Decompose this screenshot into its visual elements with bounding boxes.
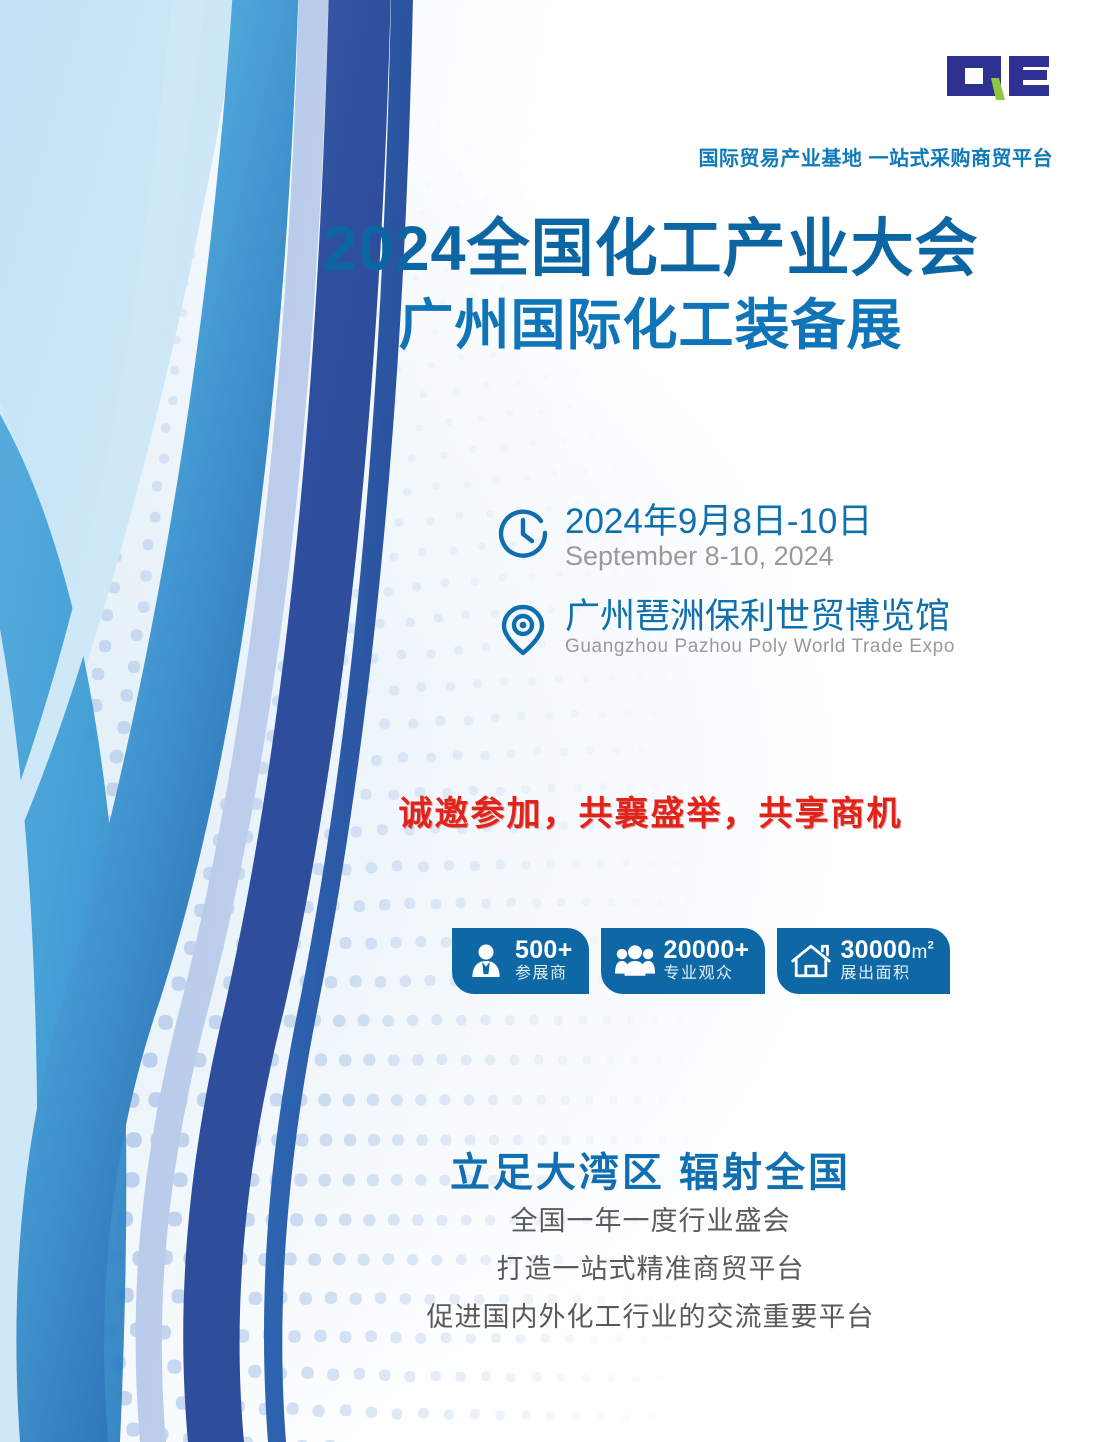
bottom-line: 全国一年一度行业盛会 <box>250 1208 1051 1235</box>
bottom-line: 打造一站式精准商贸平台 <box>250 1256 1051 1283</box>
event-venue-cn: 广州琶洲保利世贸博览馆 <box>565 598 955 636</box>
stat-number: 30000m2 <box>840 938 934 964</box>
event-venue-en: Guangzhou Pazhou Poly World Trade Expo <box>565 636 955 658</box>
location-pin-icon <box>497 598 557 663</box>
page-subtitle: 广州国际化工装备展 <box>250 292 1051 358</box>
stat-number: 20000+ <box>664 938 750 964</box>
stat-number-value: 30000 <box>840 936 911 964</box>
event-date-row: 2024年9月8日-10日 September 8-10, 2024 <box>497 503 955 572</box>
stat-badge-text: 30000m2 展出面积 <box>831 938 934 984</box>
event-venue-row: 广州琶洲保利世贸博览馆 Guangzhou Pazhou Poly World … <box>497 598 955 663</box>
title-group: 2024全国化工产业大会 广州国际化工装备展 <box>250 212 1051 358</box>
event-date-en: September 8-10, 2024 <box>565 541 872 572</box>
stat-badge-text: 500+ 参展商 <box>506 938 573 984</box>
stat-label: 参展商 <box>515 964 573 984</box>
stats-badge-row: 500+ 参展商 20000+ 专业观 <box>452 928 950 994</box>
cie-logo <box>943 48 1053 104</box>
page-title: 2024全国化工产业大会 <box>250 212 1051 286</box>
stat-badge-text: 20000+ 专业观众 <box>655 938 750 984</box>
stat-badge-visitors: 20000+ 专业观众 <box>601 928 766 994</box>
bottom-line: 促进国内外化工行业的交流重要平台 <box>250 1304 1051 1331</box>
cie-logo-icon <box>943 48 1053 104</box>
people-group-icon <box>615 943 655 979</box>
stat-unit-superscript: 2 <box>928 940 934 952</box>
stat-badge-exhibitors: 500+ 参展商 <box>452 928 589 994</box>
bottom-description: 全国一年一度行业盛会 打造一站式精准商贸平台 促进国内外化工行业的交流重要平台 <box>250 1208 1051 1352</box>
event-venue-text: 广州琶洲保利世贸博览馆 Guangzhou Pazhou Poly World … <box>557 598 955 658</box>
stat-label: 展出面积 <box>840 964 934 984</box>
invitation-slogan: 诚邀参加，共襄盛举，共享商机 <box>250 786 1051 835</box>
poster-content: 国际贸易产业基地 一站式采购商贸平台 2024全国化工产业大会 广州国际化工装备… <box>0 0 1111 1442</box>
person-icon <box>466 943 506 979</box>
event-info-block: 2024年9月8日-10日 September 8-10, 2024 广州琶洲保… <box>497 503 955 689</box>
poster-root: 国际贸易产业基地 一站式采购商贸平台 2024全国化工产业大会 广州国际化工装备… <box>0 0 1111 1442</box>
event-date-text: 2024年9月8日-10日 September 8-10, 2024 <box>557 503 872 572</box>
clock-icon <box>497 503 557 564</box>
event-date-cn: 2024年9月8日-10日 <box>565 503 872 541</box>
stat-number: 500+ <box>515 938 573 964</box>
stat-badge-area: 30000m2 展出面积 <box>777 928 950 994</box>
stat-unit: m <box>911 942 927 963</box>
house-icon <box>791 942 831 980</box>
bottom-headline: 立足大湾区 辐射全国 <box>250 1140 1051 1198</box>
stat-label: 专业观众 <box>664 964 750 984</box>
header-tagline: 国际贸易产业基地 一站式采购商贸平台 <box>698 142 1053 171</box>
